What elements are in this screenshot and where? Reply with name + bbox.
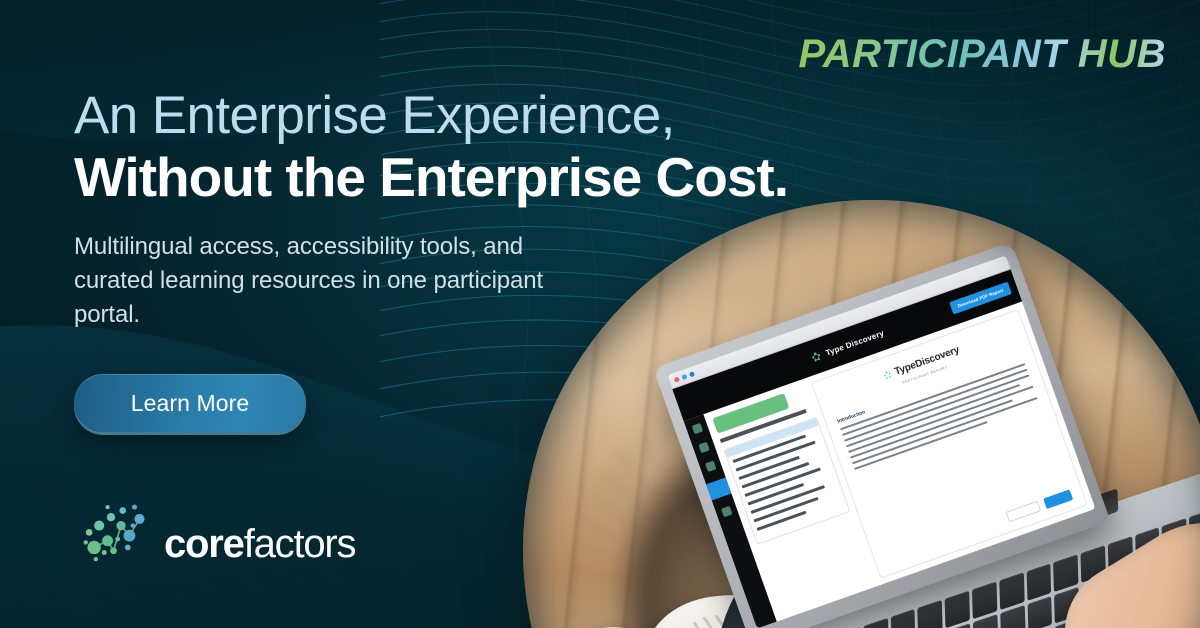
corefactors-wordmark: corefactors (164, 524, 355, 576)
learn-more-button[interactable]: Learn More (74, 374, 306, 432)
headline-line-2: Without the Enterprise Cost. (74, 148, 904, 207)
logo-word-bold: core (164, 522, 244, 566)
headline-line-1: An Enterprise Experience, (74, 88, 904, 144)
promo-banner: Type Discovery Download PDF Report (0, 0, 1200, 628)
hero-photo: Type Discovery Download PDF Report (523, 200, 1200, 628)
corefactors-logo: corefactors (74, 492, 355, 576)
rail-icon-5[interactable] (721, 506, 732, 517)
app-brand-label: Type Discovery (824, 328, 885, 357)
rail-icon-2[interactable] (698, 442, 709, 453)
previous-button[interactable] (1005, 501, 1041, 523)
type-discovery-icon (809, 349, 823, 363)
window-dot-red (674, 376, 680, 382)
hero-photo-circle: Type Discovery Download PDF Report (523, 200, 1200, 628)
window-dot-blue-2 (689, 371, 695, 377)
next-button[interactable] (1043, 489, 1073, 509)
logo-word-light: factors (244, 522, 356, 566)
window-dot-blue-1 (681, 373, 687, 379)
type-discovery-icon (881, 369, 892, 380)
report-text-line (848, 386, 1034, 454)
toc-item[interactable] (757, 511, 807, 531)
rail-icon-3[interactable] (705, 461, 716, 472)
headline: An Enterprise Experience, Without the En… (74, 88, 904, 207)
eyebrow-label: PARTICIPANT HUB (799, 32, 1167, 77)
corefactors-network-icon (74, 492, 158, 576)
subcopy: Multilingual access, accessibility tools… (74, 230, 574, 332)
rail-icon-1[interactable] (692, 423, 703, 434)
